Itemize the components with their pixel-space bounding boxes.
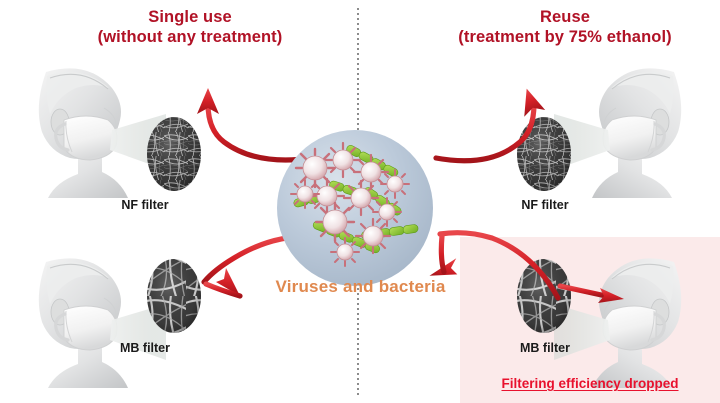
heading-reuse-line1: Reuse bbox=[420, 7, 710, 27]
curved-red-arrow-icon-breakthrough bbox=[560, 276, 640, 316]
curved-red-arrow-icon-bottom-right bbox=[430, 232, 560, 322]
heading-single-use: Single use (without any treatment) bbox=[60, 7, 320, 47]
heading-reuse: Reuse (treatment by 75% ethanol) bbox=[420, 7, 710, 47]
figure-canvas: Single use (without any treatment) Reuse… bbox=[0, 0, 720, 403]
heading-single-use-line2: (without any treatment) bbox=[60, 27, 320, 47]
heading-single-use-line1: Single use bbox=[60, 7, 320, 27]
warning-label-filtering-efficiency-dropped: Filtering efficiency dropped bbox=[460, 376, 720, 391]
curved-red-arrow-icon-top-right bbox=[434, 84, 554, 180]
virus-bacteria-cluster-icon bbox=[275, 128, 435, 288]
filter-label-top-left: NF filter bbox=[90, 198, 200, 212]
filter-label-bottom-left: MB filter bbox=[90, 341, 200, 355]
filter-label-top-right: NF filter bbox=[490, 198, 600, 212]
heading-reuse-line2: (treatment by 75% ethanol) bbox=[420, 27, 710, 47]
filter-label-bottom-right: MB filter bbox=[490, 341, 600, 355]
